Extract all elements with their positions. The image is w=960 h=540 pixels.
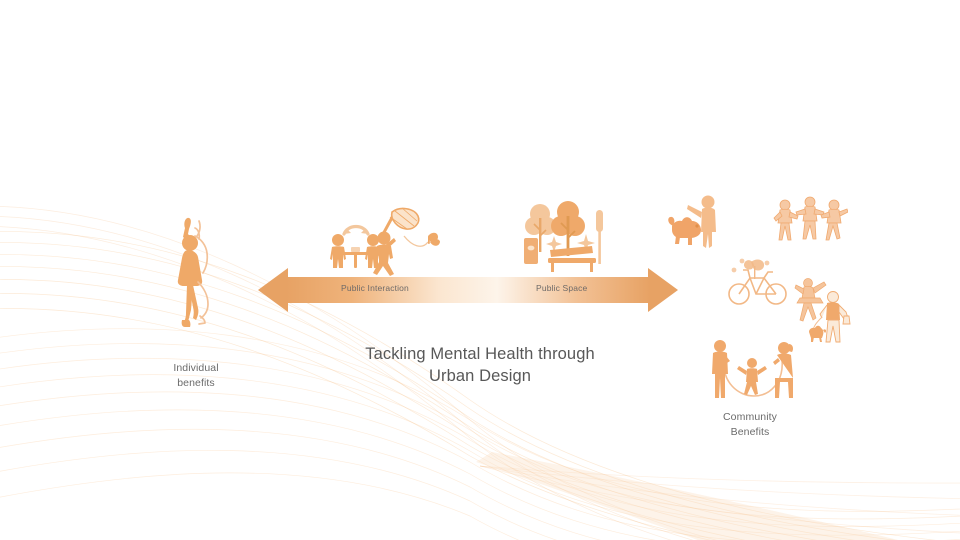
three-children-dancing-icon (772, 196, 848, 248)
caption-community-line-2: Benefits (700, 425, 800, 440)
bicycle-with-plant-basket-icon (726, 258, 790, 308)
slide-title-line-1: Tackling Mental Health through (300, 343, 660, 365)
arrow-label-public-interaction: Public Interaction (341, 283, 409, 293)
caption-community-line-1: Community (700, 410, 800, 425)
dancing-woman-icon (162, 212, 228, 334)
slide-title-line-2: Urban Design (300, 365, 660, 387)
slide-title: Tackling Mental Health through Urban Des… (300, 343, 660, 387)
slide-canvas: Public Interaction Public Space Tackling… (0, 0, 960, 540)
arrow-label-public-space: Public Space (536, 283, 587, 293)
caption-community-benefits: Community Benefits (700, 410, 800, 439)
adults-and-child-jumping-rope-icon (708, 338, 800, 400)
caption-individual-line-2: benefits (146, 376, 246, 391)
double-headed-arrow (258, 262, 678, 318)
woman-walking-dog-icon (806, 290, 852, 344)
caption-individual-benefits: Individual benefits (146, 361, 246, 390)
caption-individual-line-1: Individual (146, 361, 246, 376)
arrow-shape (258, 262, 678, 318)
person-with-dog-icon (668, 192, 730, 254)
